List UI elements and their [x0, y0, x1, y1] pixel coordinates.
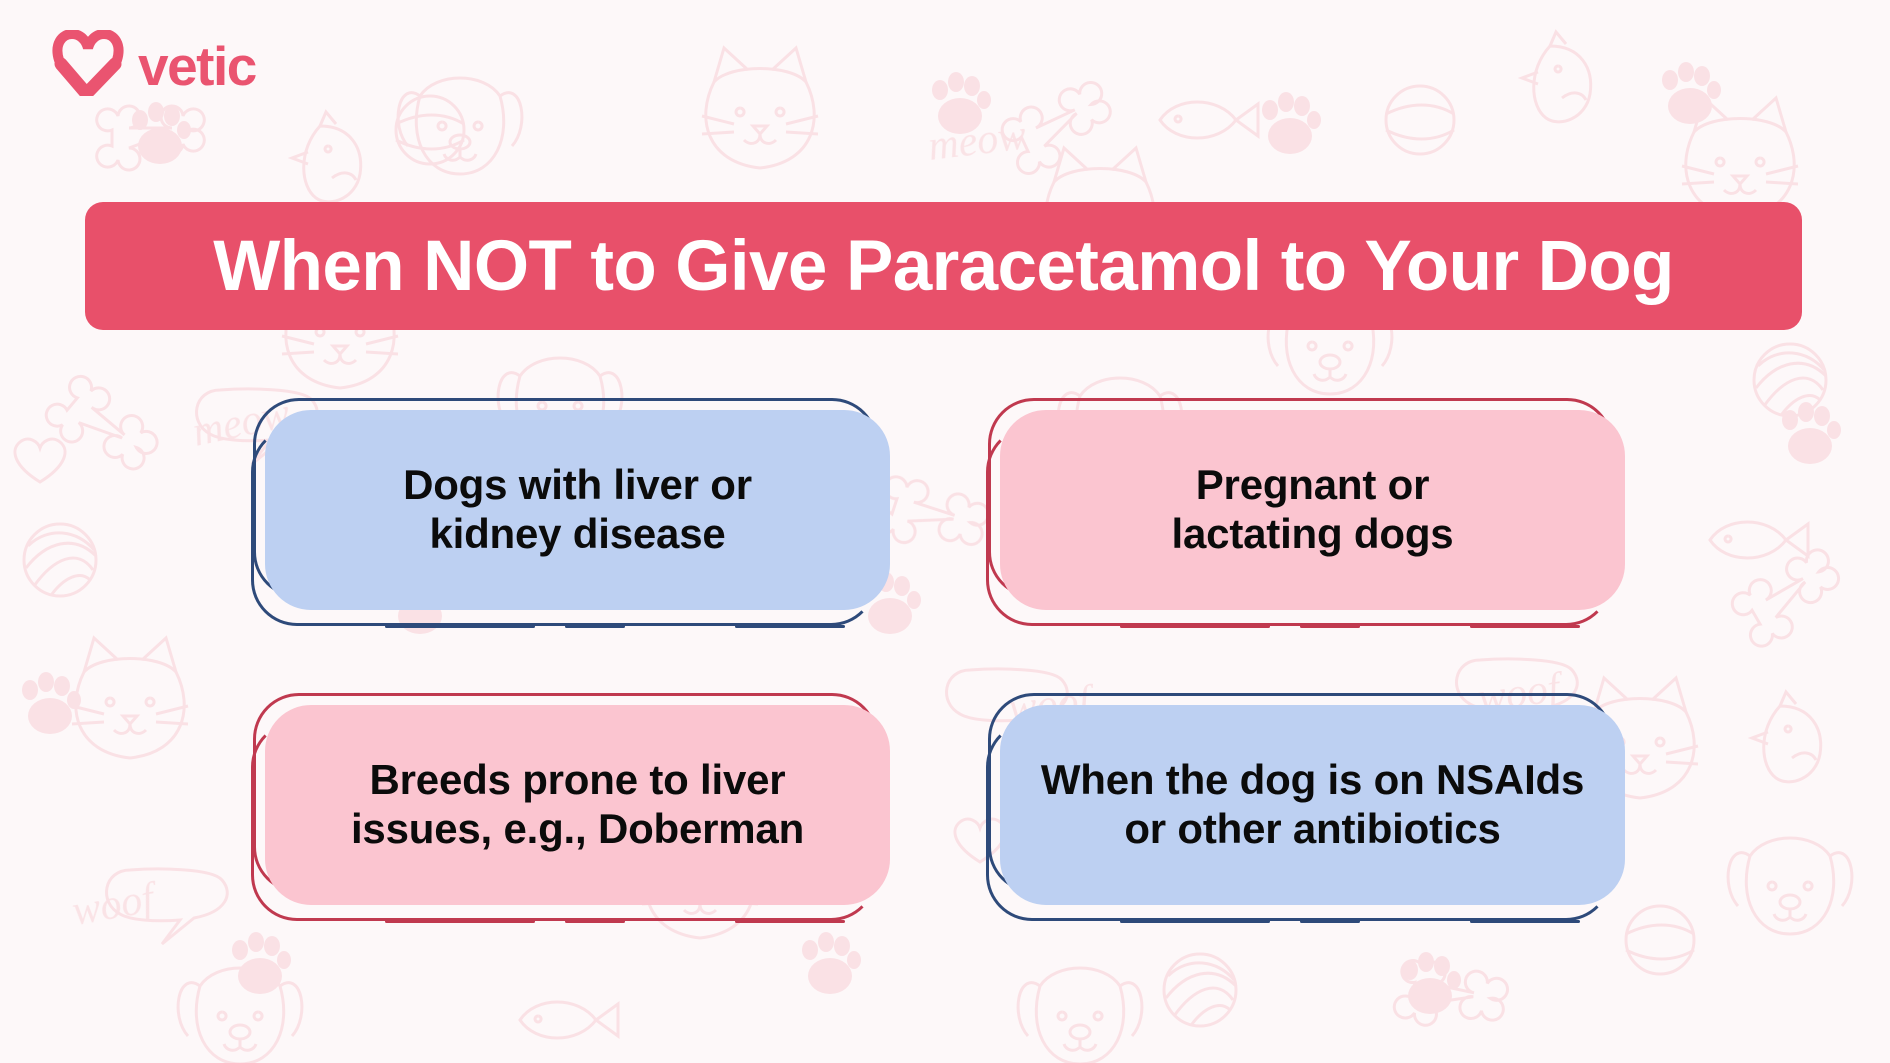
card-label: Dogs with liver or kidney disease	[377, 461, 778, 558]
card-label: When the dog is on NSAIds or other antib…	[1015, 756, 1610, 853]
card-pregnant-lactating[interactable]: Pregnant or lactating dogs	[1000, 410, 1625, 610]
brand-logo: vetic	[52, 30, 256, 96]
card-dash-2	[1300, 625, 1360, 628]
cards-grid: Dogs with liver or kidney disease Pregna…	[0, 410, 1890, 905]
card-dash-3	[1470, 920, 1580, 923]
page-title: When NOT to Give Paracetamol to Your Dog	[213, 231, 1674, 302]
card-label: Pregnant or lactating dogs	[1146, 461, 1480, 558]
card-dash-3	[1470, 625, 1580, 628]
card-dash-1	[385, 625, 535, 628]
cards-row-bottom: Breeds prone to liver issues, e.g., Dobe…	[0, 705, 1890, 905]
card-liver-kidney-disease[interactable]: Dogs with liver or kidney disease	[265, 410, 890, 610]
card-dash-2	[565, 920, 625, 923]
title-banner: When NOT to Give Paracetamol to Your Dog	[85, 202, 1802, 330]
card-body: Breeds prone to liver issues, e.g., Dobe…	[265, 705, 890, 905]
card-dash-1	[1120, 920, 1270, 923]
vetic-heart-logo-icon	[52, 30, 124, 96]
card-body: Dogs with liver or kidney disease	[265, 410, 890, 610]
card-dash-3	[735, 625, 845, 628]
card-body: When the dog is on NSAIds or other antib…	[1000, 705, 1625, 905]
infographic-poster: meow woof woof woof meow vetic When NOT …	[0, 0, 1890, 1063]
card-dash-2	[565, 625, 625, 628]
card-body: Pregnant or lactating dogs	[1000, 410, 1625, 610]
card-breeds-prone-liver-issues[interactable]: Breeds prone to liver issues, e.g., Dobe…	[265, 705, 890, 905]
brand-wordmark: vetic	[138, 39, 256, 94]
card-dash-2	[1300, 920, 1360, 923]
card-label: Breeds prone to liver issues, e.g., Dobe…	[325, 756, 830, 853]
card-on-nsaids-antibiotics[interactable]: When the dog is on NSAIds or other antib…	[1000, 705, 1625, 905]
cards-row-top: Dogs with liver or kidney disease Pregna…	[0, 410, 1890, 610]
card-dash-1	[385, 920, 535, 923]
svg-text:meow: meow	[926, 112, 1029, 170]
card-dash-1	[1120, 625, 1270, 628]
card-dash-3	[735, 920, 845, 923]
